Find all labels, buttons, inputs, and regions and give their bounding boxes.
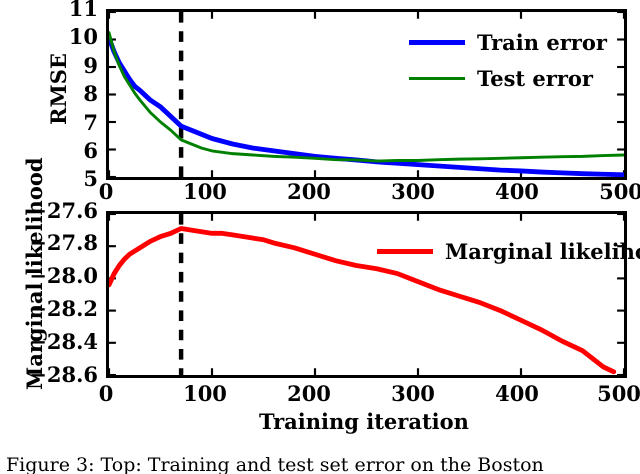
rmse-xtick-500: 500 [596, 181, 640, 202]
rmse-ytick-11: 11 [54, 0, 98, 19]
legend-label-marginal-likelihood: Marginal likelihood [445, 239, 640, 264]
legend-swatch-test-error [409, 77, 465, 80]
legend-item-test-error[interactable]: Test error [409, 63, 607, 93]
rmse-xtick-300: 300 [388, 181, 438, 202]
ml-xtick-500: 500 [594, 383, 640, 404]
figure-caption: Figure 3: Top: Training and test set err… [6, 452, 636, 474]
legend-label-test-error: Test error [477, 66, 593, 91]
legend-swatch-marginal-likelihood [377, 249, 433, 254]
legend-label-train-error: Train error [477, 30, 607, 55]
marginal-likelihood-axis-title: Marginal likelihood [22, 157, 47, 390]
ml-xtick-200: 200 [284, 383, 334, 404]
legend-item-marginal-likelihood[interactable]: Marginal likelihood [377, 236, 640, 266]
rmse-axis-title: RMSE [46, 53, 71, 125]
rmse-ytick-10: 10 [54, 26, 98, 47]
legend-item-train-error[interactable]: Train error [409, 27, 607, 57]
rmse-xtick-400: 400 [492, 181, 542, 202]
training-iteration-axis-title: Training iteration [259, 409, 469, 434]
marginal-likelihood-legend: Marginal likelihood [377, 236, 640, 266]
figure-container: 11 10 9 8 7 6 5 RMSE 0 100 200 300 400 5… [0, 0, 640, 474]
ml-xtick-100: 100 [180, 383, 230, 404]
rmse-ytick-6: 6 [54, 140, 98, 161]
ml-xtick-300: 300 [388, 383, 438, 404]
rmse-xtick-100: 100 [180, 181, 230, 202]
rmse-legend: Train error Test error [409, 27, 607, 93]
rmse-xtick-200: 200 [284, 181, 334, 202]
ml-xtick-0: 0 [86, 383, 126, 404]
ml-xtick-400: 400 [492, 383, 542, 404]
legend-swatch-train-error [409, 40, 465, 45]
